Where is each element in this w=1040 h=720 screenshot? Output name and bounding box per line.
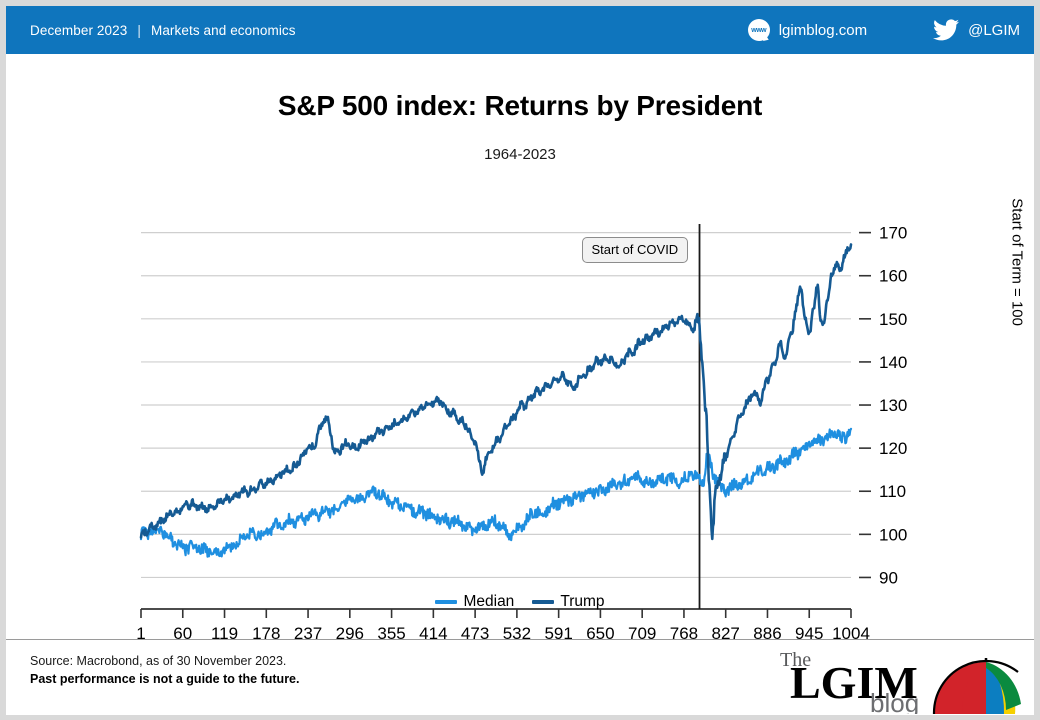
legend-swatch-median xyxy=(435,600,457,603)
svg-text:170: 170 xyxy=(879,224,907,243)
plot-wrapper: 9010011012013014015016017016011917823729… xyxy=(6,54,1034,639)
website-label: lgimblog.com xyxy=(779,22,867,39)
header-left-group: December 2023 | Markets and economics xyxy=(30,6,296,54)
covid-annotation-label: Start of COVID xyxy=(582,237,689,263)
twitter-handle-label: @LGIM xyxy=(968,22,1020,39)
svg-text:110: 110 xyxy=(879,482,906,501)
page-header: December 2023 | Markets and economics ww… xyxy=(6,6,1034,54)
www-globe-icon: www xyxy=(748,19,770,41)
lgim-blog-logo: The LGIM blog xyxy=(766,642,1024,714)
page-footer: Source: Macrobond, as of 30 November 202… xyxy=(6,639,1034,715)
svg-text:414: 414 xyxy=(419,624,447,639)
svg-text:709: 709 xyxy=(628,624,656,639)
svg-text:130: 130 xyxy=(879,396,907,415)
svg-text:768: 768 xyxy=(670,624,698,639)
svg-text:355: 355 xyxy=(377,624,405,639)
legend-item-trump[interactable]: Trump xyxy=(532,593,604,611)
y-axis-title: Start of Term = 100 xyxy=(1009,198,1026,326)
chart-plot: 9010011012013014015016017016011917823729… xyxy=(6,54,1034,639)
disclaimer-note: Past performance is not a guide to the f… xyxy=(30,672,299,686)
twitter-link[interactable]: @LGIM xyxy=(933,19,1020,41)
legend-label-trump: Trump xyxy=(560,593,604,611)
svg-text:150: 150 xyxy=(879,310,907,329)
svg-text:591: 591 xyxy=(544,624,572,639)
svg-text:120: 120 xyxy=(879,439,907,458)
svg-text:296: 296 xyxy=(336,624,364,639)
svg-text:1: 1 xyxy=(136,624,145,639)
svg-text:886: 886 xyxy=(753,624,781,639)
svg-text:90: 90 xyxy=(879,568,898,587)
header-right-group: www lgimblog.com @LGIM xyxy=(748,6,1020,54)
legend-label-median: Median xyxy=(463,593,514,611)
svg-text:1004: 1004 xyxy=(832,624,870,639)
header-category: Markets and economics xyxy=(151,23,296,38)
slide-canvas: December 2023 | Markets and economics ww… xyxy=(6,6,1034,714)
svg-text:60: 60 xyxy=(173,624,192,639)
chart-area: S&P 500 index: Returns by President 1964… xyxy=(6,54,1034,639)
header-separator: | xyxy=(137,23,141,38)
svg-text:532: 532 xyxy=(503,624,531,639)
svg-text:140: 140 xyxy=(879,353,907,372)
header-date: December 2023 xyxy=(30,23,127,38)
www-icon-text: www xyxy=(751,27,766,34)
legend-item-median[interactable]: Median xyxy=(435,593,514,611)
umbrella-icon xyxy=(934,658,1021,714)
svg-text:119: 119 xyxy=(211,624,238,639)
source-note: Source: Macrobond, as of 30 November 202… xyxy=(30,654,286,668)
svg-text:473: 473 xyxy=(461,624,489,639)
svg-text:178: 178 xyxy=(252,624,280,639)
svg-text:blog: blog xyxy=(870,688,919,714)
svg-text:945: 945 xyxy=(795,624,823,639)
svg-text:100: 100 xyxy=(879,525,907,544)
website-link[interactable]: www lgimblog.com xyxy=(748,19,867,41)
chart-legend: Median Trump xyxy=(6,593,1034,611)
svg-text:237: 237 xyxy=(294,624,322,639)
legend-swatch-trump xyxy=(532,600,554,603)
twitter-bird-icon xyxy=(933,19,959,41)
svg-text:160: 160 xyxy=(879,267,907,286)
svg-text:827: 827 xyxy=(712,624,740,639)
svg-text:650: 650 xyxy=(586,624,614,639)
